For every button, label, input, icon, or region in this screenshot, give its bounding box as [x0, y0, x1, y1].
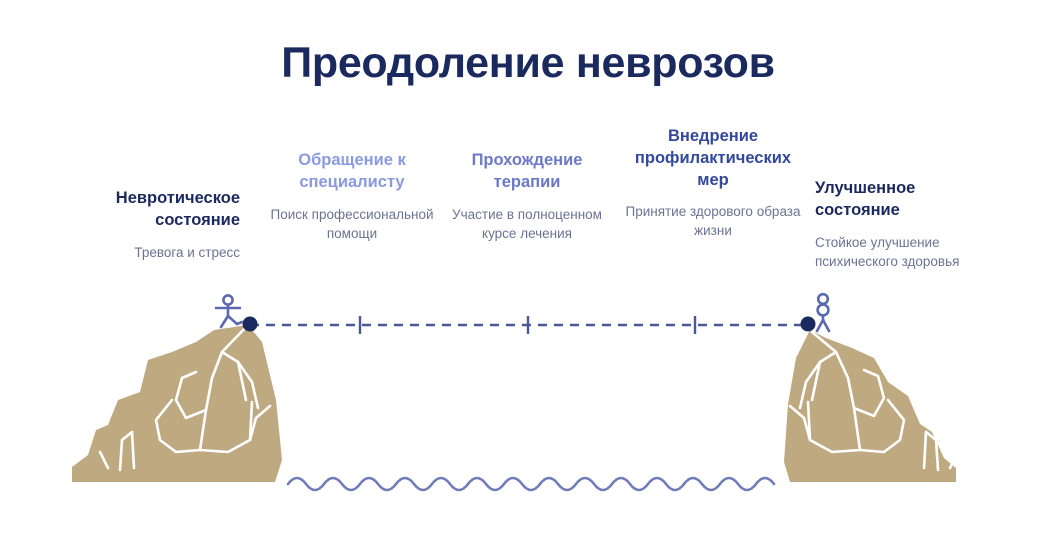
- mountain-peak-left-icon: [72, 325, 282, 482]
- stick-figure-standing-icon: [817, 294, 829, 331]
- infographic-canvas: Преодоление неврозов Невротическое состо…: [0, 0, 1056, 540]
- mountain-peak-right-icon: [784, 330, 958, 482]
- stick-figure-walking-icon: [216, 295, 242, 327]
- path-marker-start: [243, 317, 258, 332]
- wavy-water-line: [288, 478, 774, 490]
- dashed-path-line: [243, 316, 816, 334]
- scenery-illustration: [0, 0, 1056, 540]
- path-marker-end: [801, 317, 816, 332]
